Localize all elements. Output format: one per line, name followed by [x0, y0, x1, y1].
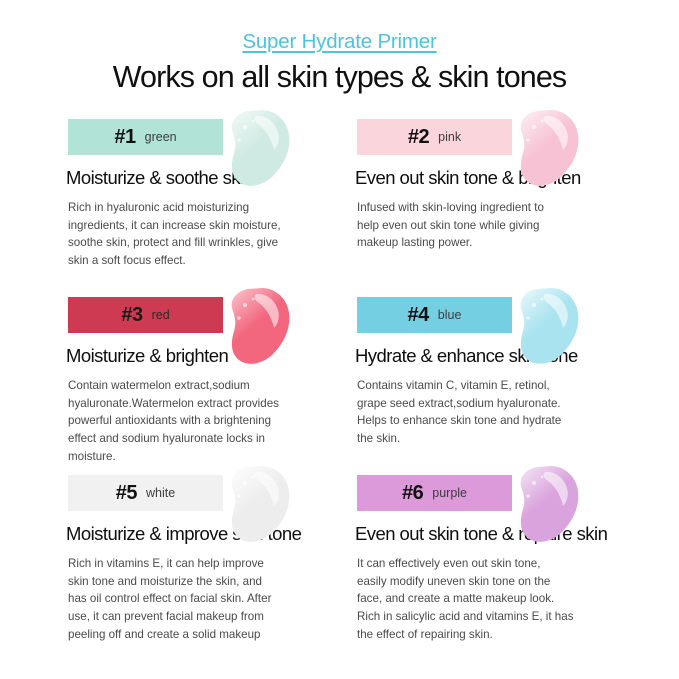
shade-color-name: green: [145, 131, 177, 144]
shade-card-pink: #2 pink: [341, 113, 624, 291]
shade-number: #5: [116, 483, 137, 503]
shade-description: It can effectively even out skin tone, e…: [357, 555, 589, 643]
shade-number: #6: [402, 483, 423, 503]
shade-color-name: white: [146, 487, 175, 500]
shade-label-bar: #1 green: [68, 119, 223, 155]
shade-benefit-title: Even out skin tone & repaire skin: [355, 523, 624, 545]
shade-label-bar: #6 purple: [357, 475, 512, 511]
shade-color-name: purple: [432, 487, 467, 500]
shade-badge-row: #3 red: [58, 291, 341, 339]
shade-badge-row: #1 green: [58, 113, 341, 161]
shade-number: #2: [408, 127, 429, 147]
shade-benefit-title: Moisturize & improve skin tone: [66, 523, 341, 545]
shade-badge-row: #6 purple: [347, 469, 624, 517]
shade-color-name: blue: [438, 309, 462, 322]
shade-number: #1: [114, 127, 135, 147]
shade-card-blue: #4 blue: [341, 291, 624, 469]
shade-number: #3: [121, 305, 142, 325]
shade-card-red: #3 red: [58, 291, 341, 469]
page-title: Works on all skin types & skin tones: [58, 60, 621, 95]
shade-benefit-title: Even out skin tone & brighten: [355, 167, 624, 189]
shade-number: #4: [408, 305, 429, 325]
shade-benefit-title: Hydrate & enhance skin tone: [355, 345, 624, 367]
shade-benefit-title: Moisturize & soothe skin: [66, 167, 341, 189]
shade-badge-row: #5 white: [58, 469, 341, 517]
shade-benefit-title: Moisturize & brighten: [66, 345, 341, 367]
shade-label-bar: #4 blue: [357, 297, 512, 333]
shade-label-bar: #3 red: [68, 297, 223, 333]
shade-card-white: #5 white: [58, 469, 341, 647]
shade-card-green: #1 green: [58, 113, 341, 291]
shade-badge-row: #2 pink: [347, 113, 624, 161]
shade-label-bar: #2 pink: [357, 119, 512, 155]
shade-card-purple: #6 purple: [341, 469, 624, 647]
product-name-eyebrow: Super Hydrate Primer: [242, 30, 436, 54]
page-header: Super Hydrate Primer Works on all skin t…: [58, 30, 621, 95]
shade-color-name: red: [152, 309, 170, 322]
shade-card-grid: #1 green: [58, 113, 621, 647]
shade-description: Contains vitamin C, vitamin E, retinol, …: [357, 377, 589, 447]
shade-description: Rich in hyaluronic acid moisturizing ing…: [68, 199, 300, 269]
shade-badge-row: #4 blue: [347, 291, 624, 339]
shade-description: Infused with skin-loving ingredient to h…: [357, 199, 589, 252]
shade-label-bar: #5 white: [68, 475, 223, 511]
shade-description: Rich in vitamins E, it can help improve …: [68, 555, 300, 643]
shade-description: Contain watermelon extract,sodium hyalur…: [68, 377, 300, 465]
shade-color-name: pink: [438, 131, 461, 144]
infographic-page: Super Hydrate Primer Works on all skin t…: [0, 0, 679, 679]
